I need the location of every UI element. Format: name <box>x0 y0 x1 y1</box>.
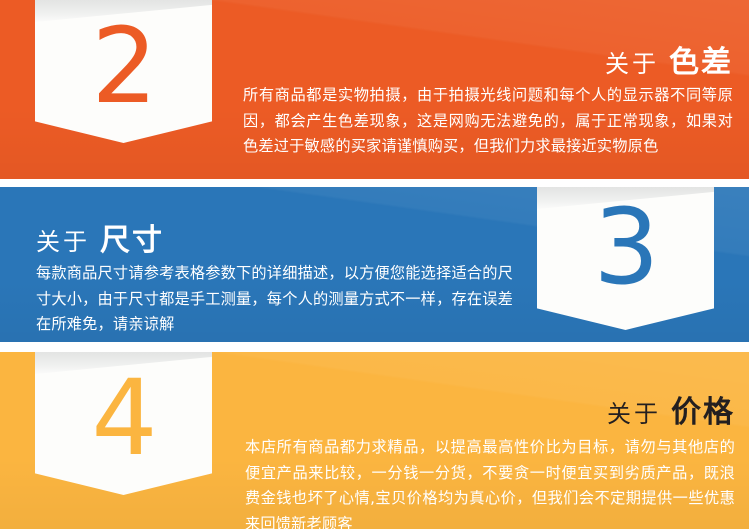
heading-keyword: 价格 <box>671 395 735 430</box>
ribbon-number-3: 3 <box>537 195 714 299</box>
ribbon-banner-2: 2 <box>35 0 212 179</box>
section-body-price: 本店所有商品都力求精品，以提高最高性价比为目标，请勿与其他店的便宜产品来比较，一… <box>245 435 735 529</box>
ribbon-number-2: 2 <box>35 14 212 118</box>
heading-prefix: 关于 <box>36 228 90 256</box>
shop-policy-banner: 2 关于色差 所有商品都是实物拍摄，由于拍摄光线问题和每个人的显示器不同等原因，… <box>0 0 749 529</box>
ribbon-banner-4: 4 <box>35 352 212 529</box>
section-heading-size: 关于尺寸 <box>36 225 164 258</box>
policy-section-size: 3 关于尺寸 每款商品尺寸请参考表格参数下的详细描述，以方便您能选择适合的尺寸大… <box>0 187 749 342</box>
section-heading-color-difference: 关于色差 <box>605 47 733 80</box>
ribbon-banner-3: 3 <box>537 187 714 342</box>
section-body-color-difference: 所有商品都是实物拍摄，由于拍摄光线问题和每个人的显示器不同等原因，都会产生色差现… <box>243 83 733 160</box>
policy-section-color-difference: 2 关于色差 所有商品都是实物拍摄，由于拍摄光线问题和每个人的显示器不同等原因，… <box>0 0 749 179</box>
heading-prefix: 关于 <box>605 50 659 78</box>
policy-section-price: 4 关于价格 本店所有商品都力求精品，以提高最高性价比为目标，请勿与其他店的便宜… <box>0 352 749 529</box>
heading-keyword: 尺寸 <box>100 223 164 258</box>
heading-keyword: 色差 <box>669 45 733 80</box>
heading-prefix: 关于 <box>607 400 661 428</box>
section-body-size: 每款商品尺寸请参考表格参数下的详细描述，以方便您能选择适合的尺寸大小，由于尺寸都… <box>36 261 516 338</box>
section-heading-price: 关于价格 <box>607 397 735 430</box>
ribbon-number-4: 4 <box>35 366 212 470</box>
